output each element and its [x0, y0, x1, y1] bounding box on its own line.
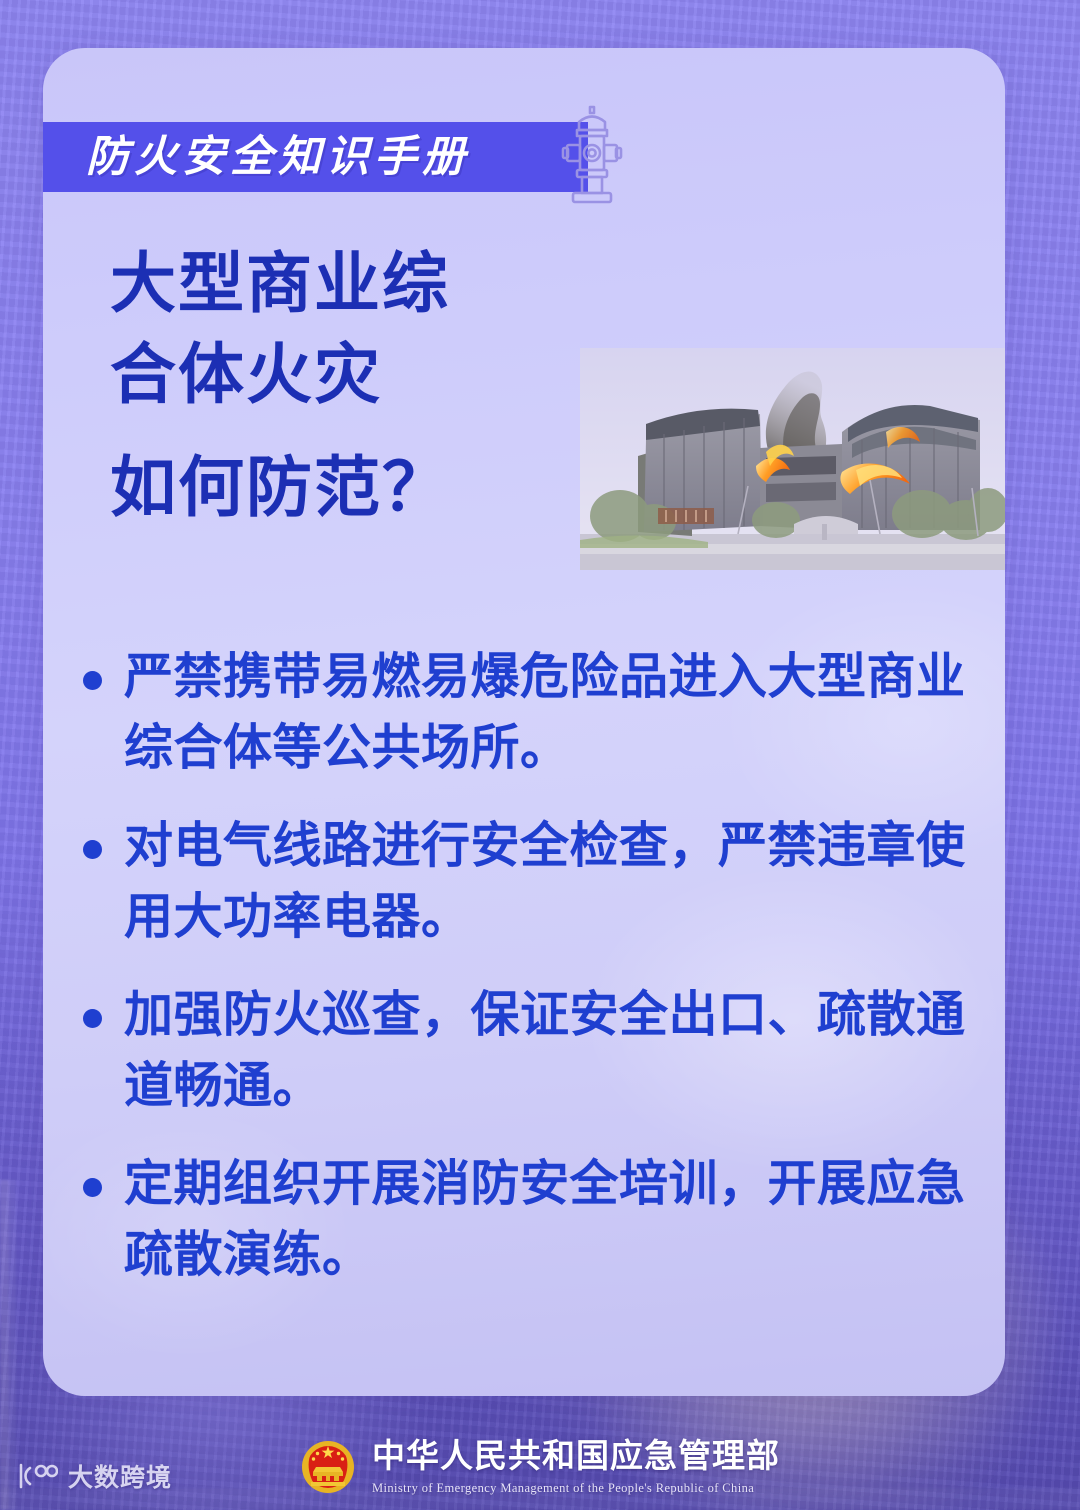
- page-title: 大型商业综 合体火灾 如何防范？: [110, 238, 580, 533]
- ministry-name-block: 中华人民共和国应急管理部 Ministry of Emergency Manag…: [372, 1438, 780, 1495]
- page-title-line-2: 合体火灾: [110, 329, 580, 420]
- watermark: 大数跨境: [14, 1455, 172, 1497]
- bullet-dot-icon: [83, 840, 102, 859]
- list-item-text: 定期组织开展消防安全培训，开展应急疏散演练。: [124, 1149, 973, 1290]
- ministry-name-en: Ministry of Emergency Management of the …: [372, 1481, 780, 1496]
- page-title-line-3: 如何防范？: [110, 442, 580, 533]
- content-card: 防火安全知识手册 大型商业综 合体火灾: [43, 48, 1005, 1396]
- bullet-dot-icon: [83, 1009, 102, 1028]
- national-emblem-icon: [300, 1439, 356, 1495]
- poster-canvas: 防火安全知识手册 大型商业综 合体火灾: [0, 0, 1080, 1510]
- watermark-text: 大数跨境: [68, 1458, 172, 1494]
- list-item: 对电气线路进行安全检查，严禁违章使用大功率电器。: [83, 811, 973, 952]
- header-badge: 防火安全知识手册: [43, 122, 588, 192]
- header-badge-label: 防火安全知识手册: [43, 136, 470, 179]
- list-item-text: 加强防火巡查，保证安全出口、疏散通道畅通。: [124, 980, 973, 1121]
- bullet-dot-icon: [83, 1178, 102, 1197]
- ministry-name-cn: 中华人民共和国应急管理部: [372, 1438, 780, 1474]
- bullet-dot-icon: [83, 671, 102, 690]
- list-item-text: 对电气线路进行安全检查，严禁违章使用大功率电器。: [124, 811, 973, 952]
- list-item: 严禁携带易燃易爆危险品进入大型商业综合体等公共场所。: [83, 642, 973, 783]
- list-item: 加强防火巡查，保证安全出口、疏散通道畅通。: [83, 980, 973, 1121]
- hero-image: [580, 348, 1005, 570]
- tips-list: 严禁携带易燃易爆危险品进入大型商业综合体等公共场所。 对电气线路进行安全检查，严…: [83, 642, 973, 1318]
- fire-hydrant-icon: [561, 102, 623, 206]
- list-item-text: 严禁携带易燃易爆危险品进入大型商业综合体等公共场所。: [124, 642, 973, 783]
- list-item: 定期组织开展消防安全培训，开展应急疏散演练。: [83, 1149, 973, 1290]
- dashukuajing-logo-icon: [14, 1461, 58, 1491]
- page-title-line-1: 大型商业综: [110, 238, 580, 329]
